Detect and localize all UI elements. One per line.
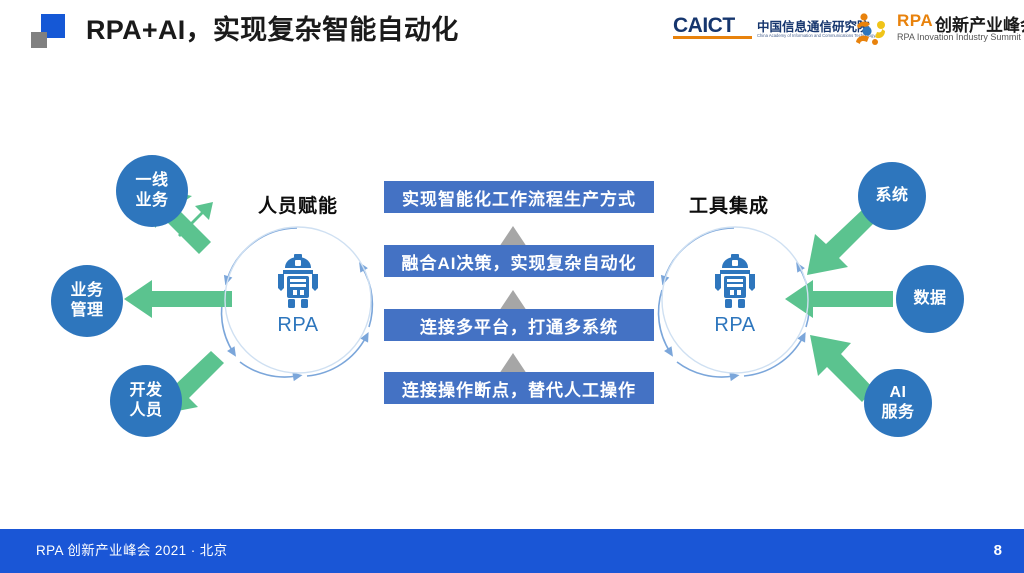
node-business-management[interactable]: 业务 管理 [51, 265, 123, 337]
slide-header: RPA+AI，实现复杂智能自动化 CAICT 中国信息通信研究院 China A… [0, 0, 1024, 62]
summit-logo: RPA 创新产业峰会 RPA Inovation Industry Summit [851, 10, 1011, 48]
arrow-from-systems-shape [807, 210, 874, 275]
right-hub-label: RPA [661, 314, 809, 337]
left-hub-label: RPA [224, 314, 372, 337]
node-developers[interactable]: 开发 人员 [110, 365, 182, 437]
page-title: RPA+AI，实现复杂智能自动化 [86, 10, 459, 50]
node-line-2: 人员 [129, 401, 162, 421]
flow-bar-text: 连接操作断点，替代人工操作 [402, 376, 636, 401]
node-line-1: 业务 [70, 281, 103, 301]
summit-english-name: RPA Inovation Industry Summit [897, 32, 1021, 42]
diagram-connectors [0, 62, 1024, 512]
caict-underline [673, 36, 752, 39]
node-systems[interactable]: 系统 [858, 162, 926, 230]
robot-icon [709, 254, 761, 308]
arrow-to-business-management-shape [124, 280, 232, 318]
gray-square-icon [31, 32, 47, 48]
diagram-area: 人员赋能 [0, 62, 1024, 512]
left-rpa-hub: RPA [224, 226, 372, 374]
flow-bar-level-4[interactable]: 实现智能化工作流程生产方式 [384, 181, 654, 213]
node-ai-services[interactable]: AI 服务 [864, 369, 932, 437]
flow-bar-text: 融合AI决策，实现复杂自动化 [402, 249, 637, 274]
node-data[interactable]: 数据 [896, 265, 964, 333]
page-number: 8 [994, 529, 1002, 573]
flow-bar-level-1[interactable]: 连接操作断点，替代人工操作 [384, 372, 654, 404]
node-line-1: 开发 [129, 381, 162, 401]
node-frontline-business[interactable]: 一线 业务 [116, 155, 188, 227]
node-line-2: 业务 [135, 191, 168, 211]
summit-rpa-text: RPA [897, 11, 933, 31]
node-line-2: 管理 [70, 301, 103, 321]
flow-bar-text: 连接多平台，打通多系统 [420, 313, 618, 338]
arrow-from-ai-services-shape [810, 335, 874, 402]
summit-people-icon [851, 12, 891, 45]
left-section-label: 人员赋能 [258, 191, 338, 218]
caict-logo: CAICT 中国信息通信研究院 China Academy of Informa… [673, 12, 841, 46]
node-line-2: 服务 [881, 403, 914, 423]
brand-square-logo [31, 14, 65, 48]
flow-bar-text: 实现智能化工作流程生产方式 [402, 185, 636, 210]
right-rpa-hub: RPA [661, 226, 809, 374]
node-line-1: 一线 [135, 171, 168, 191]
right-section-label: 工具集成 [689, 191, 769, 218]
slide-canvas: RPA+AI，实现复杂智能自动化 CAICT 中国信息通信研究院 China A… [0, 0, 1024, 573]
footer-event-text: RPA 创新产业峰会 2021 · 北京 [36, 529, 228, 573]
caict-wordmark: CAICT [673, 14, 735, 38]
robot-icon [272, 254, 324, 308]
node-line-1: AI [890, 383, 907, 403]
slide-footer: RPA 创新产业峰会 2021 · 北京 8 [0, 529, 1024, 573]
flow-bar-level-3[interactable]: 融合AI决策，实现复杂自动化 [384, 245, 654, 277]
flow-bar-level-2[interactable]: 连接多平台，打通多系统 [384, 309, 654, 341]
node-line-1: 系统 [875, 186, 908, 206]
node-line-1: 数据 [913, 289, 946, 309]
